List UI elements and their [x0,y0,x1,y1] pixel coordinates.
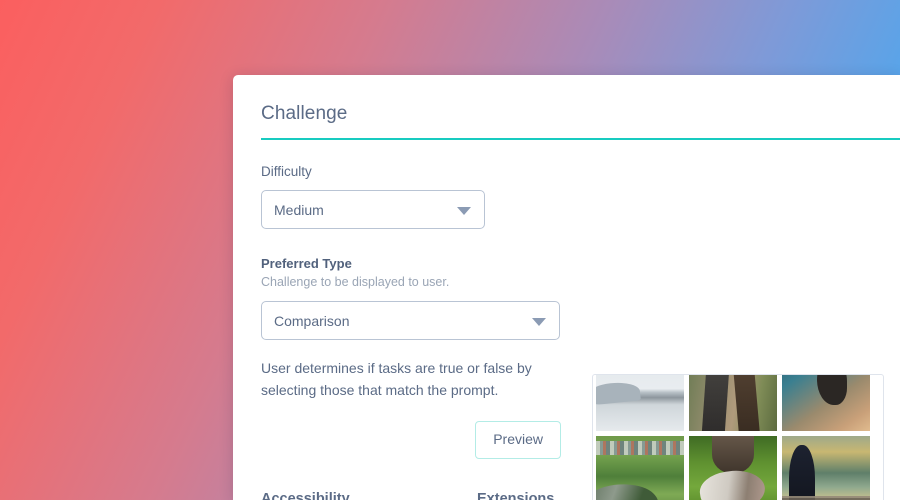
grid-cell-boat-on-water[interactable] [596,374,684,431]
grid-cell-dog-on-pavement[interactable] [782,374,870,431]
preferred-type-select[interactable]: Comparison [261,301,560,340]
people-walking-thumbnail [689,374,777,431]
difficulty-selected-value: Medium [274,201,324,219]
page-title: Challenge [261,102,900,126]
difficulty-field: Difficulty Medium [261,163,900,229]
dog-rolling-grass-thumbnail [689,436,777,500]
difficulty-label: Difficulty [261,163,900,180]
accessibility-section-heading[interactable]: Accessibility [261,490,477,500]
preferred-type-sublabel: Challenge to be displayed to user. [261,274,900,290]
preview-button[interactable]: Preview [475,421,561,459]
challenge-settings-card: Challenge Difficulty Medium Preferred Ty… [233,75,900,500]
grid-cell-dog-rolling-grass[interactable] [689,436,777,500]
grid-cell-people-walking[interactable] [689,374,777,431]
dog-on-pavement-thumbnail [782,374,870,431]
card-header: Challenge [233,75,900,126]
chevron-down-icon [532,318,546,326]
preferred-type-description: User determines if tasks are true or fal… [261,357,561,401]
card-body: Difficulty Medium Preferred Type Challen… [233,163,900,500]
title-accent-underline [261,138,900,140]
preferred-type-selected-value: Comparison [274,312,349,330]
grid-cell-woman-on-bench[interactable] [782,436,870,500]
park-with-people-thumbnail [596,436,684,500]
chevron-down-icon [457,207,471,215]
image-grid [596,374,882,500]
preferred-type-label: Preferred Type [261,255,900,272]
preview-button-row: Preview [261,421,561,459]
grid-cell-park-with-people[interactable] [596,436,684,500]
boat-on-water-thumbnail [596,374,684,431]
image-grid-panel [592,374,884,500]
extensions-section-heading[interactable]: Extensions [477,490,554,500]
woman-on-bench-thumbnail [782,436,870,500]
difficulty-select[interactable]: Medium [261,190,485,229]
